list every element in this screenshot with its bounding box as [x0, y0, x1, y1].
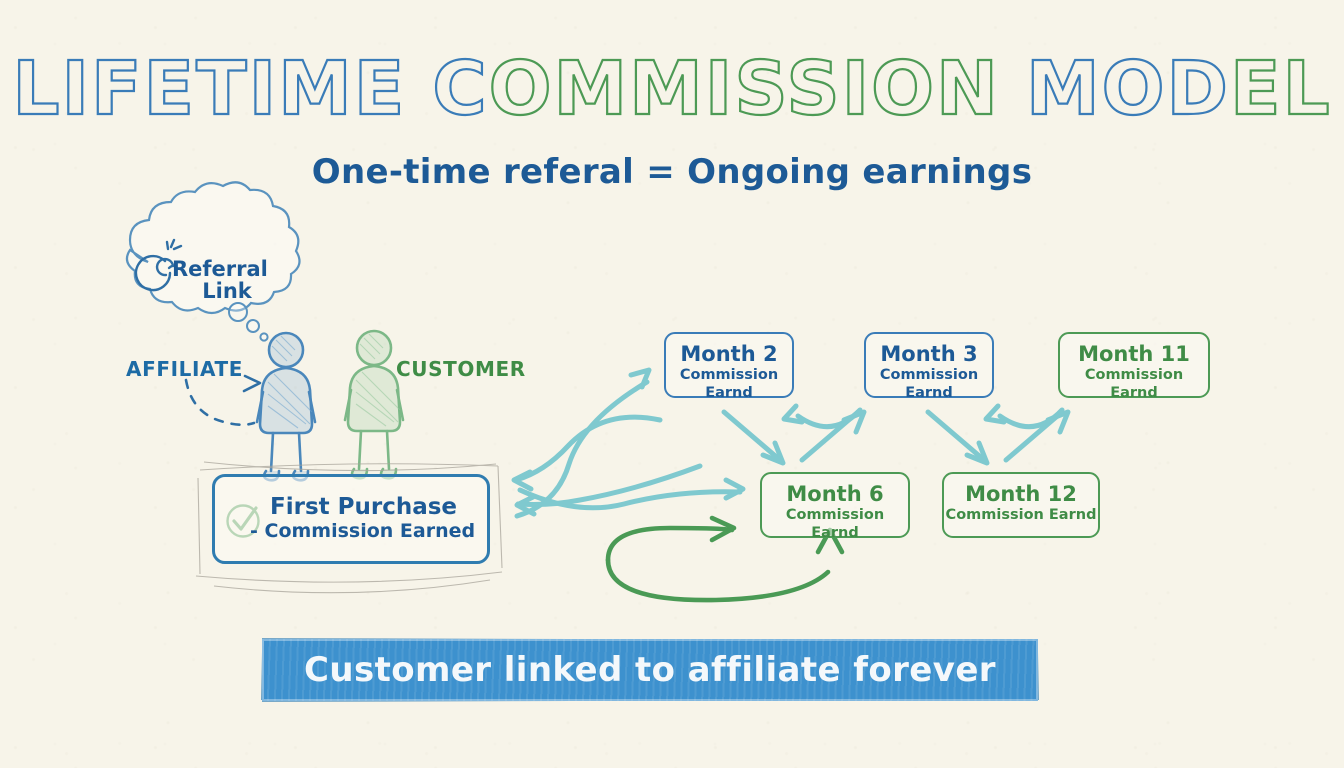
month-box-month-6[interactable]: Month 6 Commission Earnd — [760, 472, 910, 538]
first-purchase-card[interactable]: First Purchase - Commission Earned — [212, 474, 490, 564]
thought-bubble-line1: Referral — [172, 258, 282, 280]
customer-label: CUSTOMER — [396, 357, 526, 381]
thought-bubble-tail — [229, 303, 268, 341]
bottom-banner-text: Customer linked to affiliate forever — [304, 650, 996, 690]
month-box-title: Month 2 — [666, 343, 792, 366]
arrow-month3-to-month12 — [928, 412, 987, 463]
month-box-month-3[interactable]: Month 3 Commission Earnd — [864, 332, 994, 398]
month-box-subtitle: Commission Earnd — [1060, 366, 1208, 402]
month-box-subtitle: Commission Earnd — [666, 366, 792, 402]
affiliate-arrow-head — [244, 376, 260, 391]
arrow-fp-to-month2 — [517, 370, 649, 516]
month-box-subtitle: Commission Earnd — [762, 506, 908, 542]
affiliate-dashed-arrow — [186, 380, 254, 425]
bottom-banner: Customer linked to affiliate forever — [262, 639, 1038, 701]
first-purchase-title: First Purchase — [270, 495, 475, 521]
month-box-title: Month 6 — [762, 483, 908, 506]
arrow-month2-to-month6 — [724, 412, 783, 463]
month-box-title: Month 3 — [866, 343, 992, 366]
month-box-month-11[interactable]: Month 11 Commission Earnd — [1058, 332, 1210, 398]
affiliate-label: AFFILIATE — [126, 357, 243, 381]
month-box-title: Month 12 — [944, 483, 1098, 506]
month-box-month-12[interactable]: Month 12 Commission Earnd — [942, 472, 1100, 538]
thought-bubble-text: Referral Link — [172, 258, 282, 303]
month-box-title: Month 11 — [1060, 343, 1208, 366]
arrow-month12-to-month11 — [1006, 412, 1068, 460]
thought-bubble-line2: Link — [172, 280, 282, 302]
month-box-subtitle: Commission Earnd — [866, 366, 992, 402]
arrow-month6-to-month3 — [802, 412, 864, 460]
first-purchase-subtitle: - Commission Earned — [250, 521, 475, 543]
arrow-month2-back-left — [514, 417, 660, 489]
month-box-subtitle: Commission Earnd — [944, 506, 1098, 524]
first-purchase-text: First Purchase - Commission Earned — [270, 495, 475, 543]
month-box-month-2[interactable]: Month 2 Commission Earnd — [664, 332, 794, 398]
